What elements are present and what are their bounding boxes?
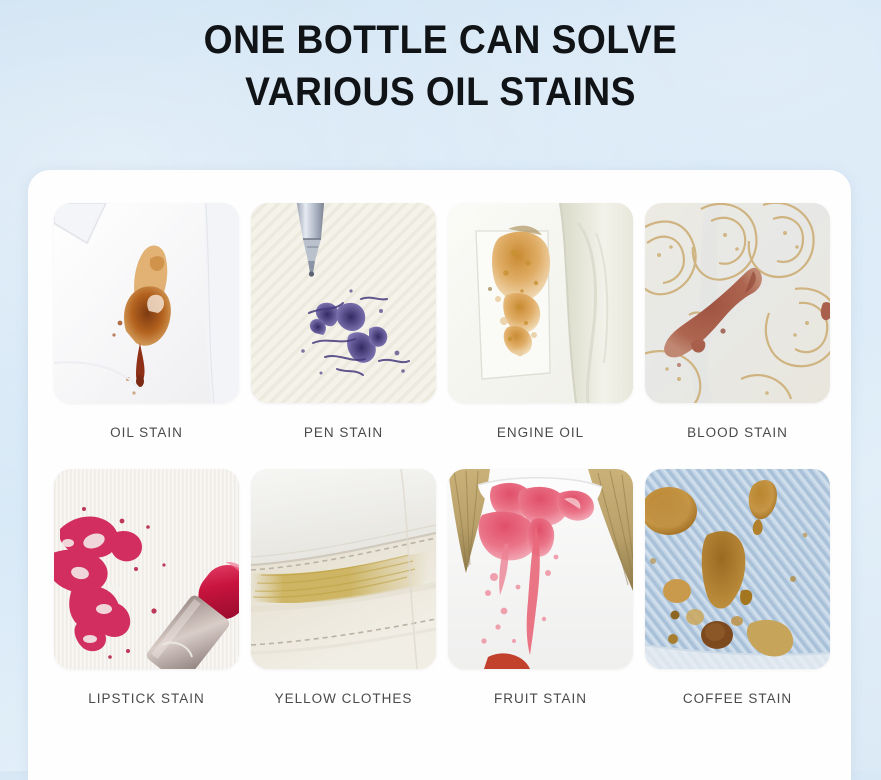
stain-label: LIPSTICK STAIN [88,691,205,706]
stain-item-oil-stain[interactable]: OIL STAIN [54,203,239,469]
stain-label: BLOOD STAIN [687,425,788,440]
stain-item-yellow-clothes[interactable]: YELLOW CLOTHES [251,469,436,735]
stain-item-pen-stain[interactable]: PEN STAIN [251,203,436,469]
stain-label: ENGINE OIL [497,425,584,440]
page-title: ONE BOTTLE CAN SOLVE VARIOUS OIL STAINS [31,14,850,118]
blood-stain-photo[interactable] [645,203,830,403]
stain-label: COFFEE STAIN [683,691,792,706]
stain-label: FRUIT STAIN [494,691,587,706]
stain-grid: OIL STAIN [28,170,851,735]
promo-page: ONE BOTTLE CAN SOLVE VARIOUS OIL STAINS [0,0,881,771]
stain-item-engine-oil[interactable]: ENGINE OIL [448,203,633,469]
stain-label: PEN STAIN [304,425,383,440]
stain-label: YELLOW CLOTHES [275,691,413,706]
pen-stain-photo[interactable] [251,203,436,403]
stain-label: OIL STAIN [110,425,183,440]
gallery-card: OIL STAIN [28,170,851,780]
page-title-line-1: ONE BOTTLE CAN SOLVE [31,14,850,66]
engine-oil-photo[interactable] [448,203,633,403]
oil-stain-photo[interactable] [54,203,239,403]
stain-item-lipstick-stain[interactable]: LIPSTICK STAIN [54,469,239,735]
fruit-stain-photo[interactable] [448,469,633,669]
stain-item-blood-stain[interactable]: BLOOD STAIN [645,203,830,469]
yellow-clothes-photo[interactable] [251,469,436,669]
coffee-stain-photo[interactable] [645,469,830,669]
stain-item-fruit-stain[interactable]: FRUIT STAIN [448,469,633,735]
page-title-line-2: VARIOUS OIL STAINS [31,66,850,118]
lipstick-stain-photo[interactable] [54,469,239,669]
stain-item-coffee-stain[interactable]: COFFEE STAIN [645,469,830,735]
